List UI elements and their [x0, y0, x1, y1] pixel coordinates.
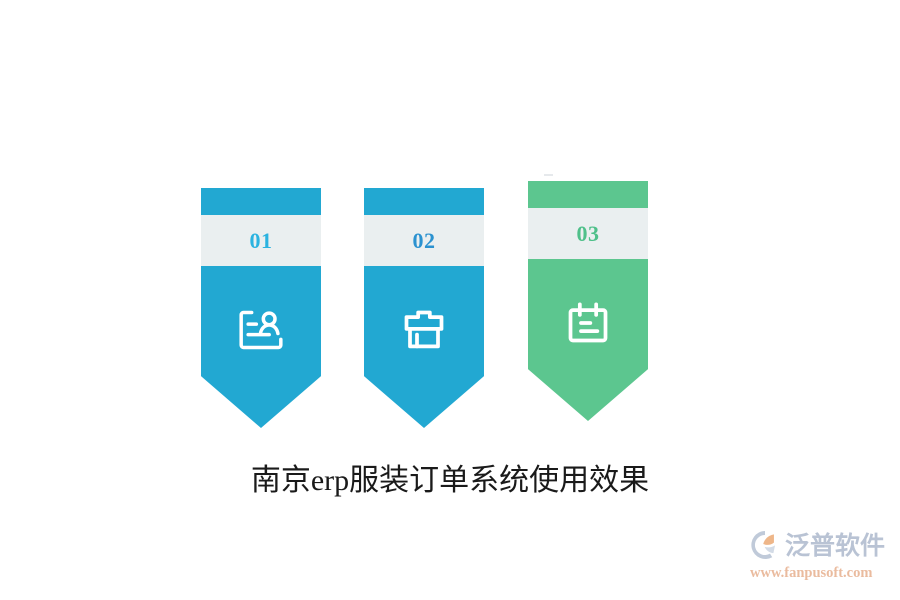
id-card-contact-icon — [233, 302, 289, 358]
ribbon-number-02: 02 — [413, 230, 436, 252]
ribbon-cap-02 — [364, 188, 484, 215]
notepad-clipboard-icon — [560, 295, 616, 351]
screenshot-canvas: 01 02 — [0, 0, 900, 600]
storefront-shop-icon — [396, 302, 452, 358]
ribbon-body-03 — [528, 259, 648, 421]
ribbon-banner-group: 01 02 — [0, 0, 900, 460]
watermark-brand-row: 泛普软件 — [748, 526, 888, 564]
watermark-brand-text: 泛普软件 — [785, 533, 885, 558]
ribbon-number-band-01: 01 — [201, 215, 321, 266]
watermark-logo: 泛普软件 www.fanpusoft.com — [748, 526, 888, 588]
watermark-url-text: www.fanpusoft.com — [748, 565, 888, 582]
ribbon-body-02 — [364, 266, 484, 428]
ribbon-number-03: 03 — [577, 223, 600, 245]
ribbon-number-01: 01 — [250, 230, 273, 252]
ribbon-body-01 — [201, 266, 321, 428]
ribbon-number-band-03: 03 — [528, 208, 648, 259]
fanpu-logo-icon — [748, 528, 782, 562]
ribbon-banner-02[interactable]: 02 — [364, 188, 484, 428]
ribbon-banner-03[interactable]: 03 — [528, 181, 648, 421]
ribbon-cap-03 — [528, 181, 648, 208]
ribbon-number-band-02: 02 — [364, 215, 484, 266]
page-title: 南京erp服装订单系统使用效果 — [0, 455, 900, 499]
ribbon-cap-01 — [201, 188, 321, 215]
ribbon-banner-01[interactable]: 01 — [201, 188, 321, 428]
